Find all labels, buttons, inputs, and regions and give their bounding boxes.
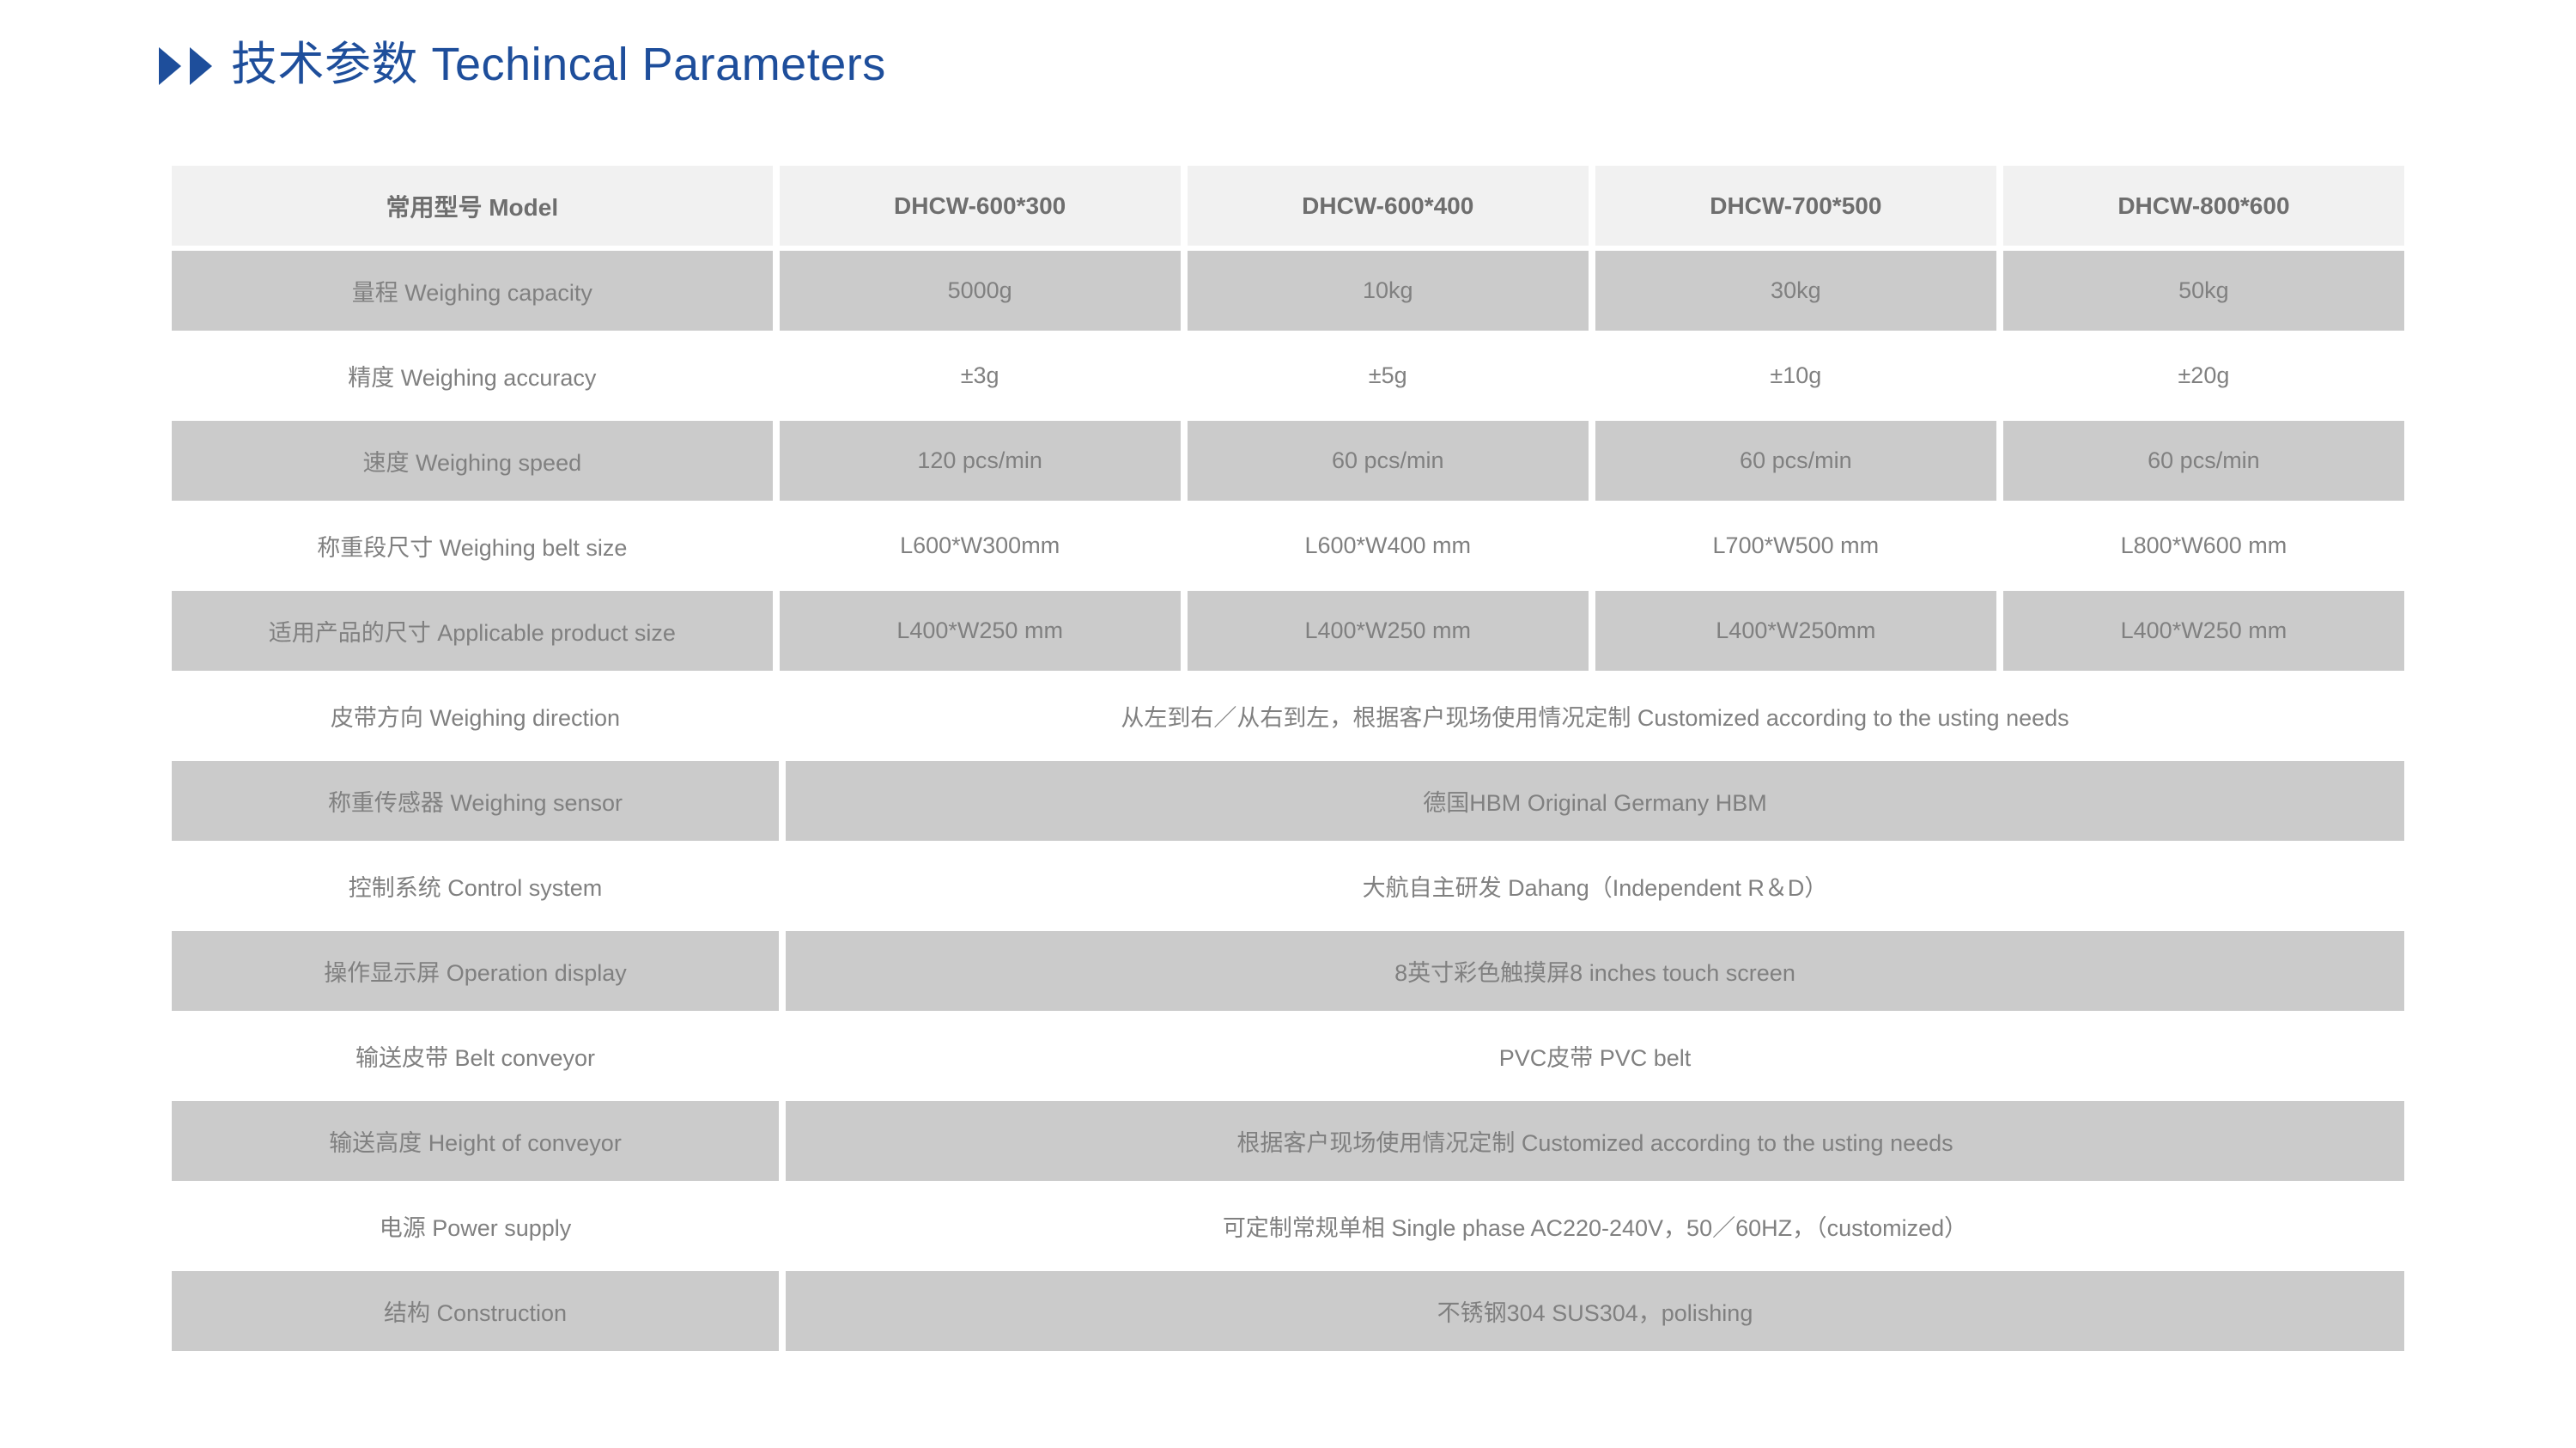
- column-header-m1: DHCW-600*300: [780, 166, 1181, 246]
- column-separator: [1589, 248, 1595, 333]
- column-separator: [1589, 163, 1595, 248]
- column-separator: [1181, 588, 1188, 673]
- row-value: 120 pcs/min: [780, 421, 1181, 501]
- column-header-m4: DHCW-800*600: [2003, 166, 2404, 246]
- column-separator: [779, 1269, 786, 1354]
- column-separator: [779, 843, 786, 928]
- row-label: 称重段尺寸 Weighing belt size: [172, 506, 773, 586]
- column-separator: [1181, 163, 1188, 248]
- row-label: 速度 Weighing speed: [172, 421, 773, 501]
- row-value: ±3g: [780, 336, 1181, 416]
- row-label: 电源 Power supply: [172, 1186, 779, 1266]
- row-merged-value: PVC皮带 PVC belt: [786, 1016, 2404, 1096]
- table-row: 输送皮带 Belt conveyorPVC皮带 PVC belt: [172, 1013, 2404, 1098]
- row-label: 皮带方向 Weighing direction: [172, 676, 779, 756]
- table-row: 适用产品的尺寸 Applicable product sizeL400*W250…: [172, 588, 2404, 673]
- row-label: 称重传感器 Weighing sensor: [172, 761, 779, 841]
- row-value: 60 pcs/min: [1595, 421, 1996, 501]
- row-merged-value: 德国HBM Original Germany HBM: [786, 761, 2404, 841]
- row-value: L400*W250 mm: [1188, 591, 1589, 671]
- table-row: 称重段尺寸 Weighing belt sizeL600*W300mmL600*…: [172, 503, 2404, 588]
- page-root: 技术参数 Techincal Parameters 常用型号 ModelDHCW…: [0, 0, 2576, 1448]
- column-separator: [779, 1098, 786, 1183]
- column-separator: [773, 418, 780, 503]
- column-separator: [1589, 418, 1595, 503]
- row-merged-value: 不锈钢304 SUS304，polishing: [786, 1271, 2404, 1351]
- column-separator: [773, 248, 780, 333]
- table-row: 速度 Weighing speed120 pcs/min60 pcs/min60…: [172, 418, 2404, 503]
- column-separator: [1996, 163, 2003, 248]
- row-value: L800*W600 mm: [2003, 506, 2404, 586]
- column-header-model-label: 常用型号 Model: [172, 166, 773, 246]
- column-separator: [1589, 588, 1595, 673]
- table-row: 皮带方向 Weighing direction从左到右／从右到左，根据客户现场使…: [172, 673, 2404, 758]
- column-separator: [1996, 333, 2003, 418]
- row-value: L600*W400 mm: [1188, 506, 1589, 586]
- row-value: ±5g: [1188, 336, 1589, 416]
- page-title: 技术参数 Techincal Parameters: [159, 26, 886, 103]
- row-label: 适用产品的尺寸 Applicable product size: [172, 591, 773, 671]
- column-separator: [1181, 248, 1188, 333]
- table-row: 控制系统 Control system大航自主研发 Dahang（Indepen…: [172, 843, 2404, 928]
- column-separator: [779, 758, 786, 843]
- column-separator: [779, 1013, 786, 1098]
- row-value: 60 pcs/min: [1188, 421, 1589, 501]
- column-separator: [1996, 248, 2003, 333]
- column-header-m3: DHCW-700*500: [1595, 166, 1996, 246]
- column-separator: [779, 673, 786, 758]
- double-triangle-right-icon: [159, 47, 212, 85]
- column-separator: [1181, 333, 1188, 418]
- row-value: 50kg: [2003, 251, 2404, 331]
- row-label: 控制系统 Control system: [172, 846, 779, 926]
- row-value: 10kg: [1188, 251, 1589, 331]
- row-value: L400*W250mm: [1595, 591, 1996, 671]
- row-merged-value: 根据客户现场使用情况定制 Customized according to the…: [786, 1101, 2404, 1181]
- column-separator: [773, 333, 780, 418]
- column-separator: [779, 1183, 786, 1269]
- table-row: 电源 Power supply可定制常规单相 Single phase AC22…: [172, 1183, 2404, 1269]
- triangle-right-icon-1: [159, 47, 181, 85]
- table-row: 精度 Weighing accuracy±3g±5g±10g±20g: [172, 333, 2404, 418]
- row-merged-value: 8英寸彩色触摸屏8 inches touch screen: [786, 931, 2404, 1011]
- column-separator: [1589, 503, 1595, 588]
- row-value: L700*W500 mm: [1595, 506, 1996, 586]
- row-value: 60 pcs/min: [2003, 421, 2404, 501]
- row-label: 输送高度 Height of conveyor: [172, 1101, 779, 1181]
- technical-parameters-table: 常用型号 ModelDHCW-600*300DHCW-600*400DHCW-7…: [172, 163, 2404, 1354]
- row-value: ±10g: [1595, 336, 1996, 416]
- column-separator: [773, 503, 780, 588]
- row-label: 输送皮带 Belt conveyor: [172, 1016, 779, 1096]
- row-label: 结构 Construction: [172, 1271, 779, 1351]
- row-value: L400*W250 mm: [780, 591, 1181, 671]
- row-merged-value: 从左到右／从右到左，根据客户现场使用情况定制 Customized accord…: [786, 676, 2404, 756]
- column-separator: [1996, 503, 2003, 588]
- column-separator: [773, 588, 780, 673]
- table-row: 输送高度 Height of conveyor根据客户现场使用情况定制 Cust…: [172, 1098, 2404, 1183]
- column-separator: [1996, 418, 2003, 503]
- row-value: L400*W250 mm: [2003, 591, 2404, 671]
- table-header-row: 常用型号 ModelDHCW-600*300DHCW-600*400DHCW-7…: [172, 163, 2404, 248]
- triangle-right-icon-2: [190, 47, 212, 85]
- column-separator: [1181, 503, 1188, 588]
- row-value: L600*W300mm: [780, 506, 1181, 586]
- column-header-m2: DHCW-600*400: [1188, 166, 1589, 246]
- table-row: 称重传感器 Weighing sensor德国HBM Original Germ…: [172, 758, 2404, 843]
- row-value: 5000g: [780, 251, 1181, 331]
- row-label: 量程 Weighing capacity: [172, 251, 773, 331]
- table-row: 结构 Construction不锈钢304 SUS304，polishing: [172, 1269, 2404, 1354]
- column-separator: [779, 928, 786, 1013]
- column-separator: [1181, 418, 1188, 503]
- column-separator: [773, 163, 780, 248]
- row-merged-value: 可定制常规单相 Single phase AC220-240V，50／60HZ，…: [786, 1186, 2404, 1266]
- row-value: ±20g: [2003, 336, 2404, 416]
- page-title-text: 技术参数 Techincal Parameters: [231, 41, 886, 88]
- row-label: 操作显示屏 Operation display: [172, 931, 779, 1011]
- table-row: 操作显示屏 Operation display8英寸彩色触摸屏8 inches …: [172, 928, 2404, 1013]
- row-label: 精度 Weighing accuracy: [172, 336, 773, 416]
- row-value: 30kg: [1595, 251, 1996, 331]
- column-separator: [1996, 588, 2003, 673]
- row-merged-value: 大航自主研发 Dahang（Independent R＆D）: [786, 846, 2404, 926]
- table-row: 量程 Weighing capacity5000g10kg30kg50kg: [172, 248, 2404, 333]
- column-separator: [1589, 333, 1595, 418]
